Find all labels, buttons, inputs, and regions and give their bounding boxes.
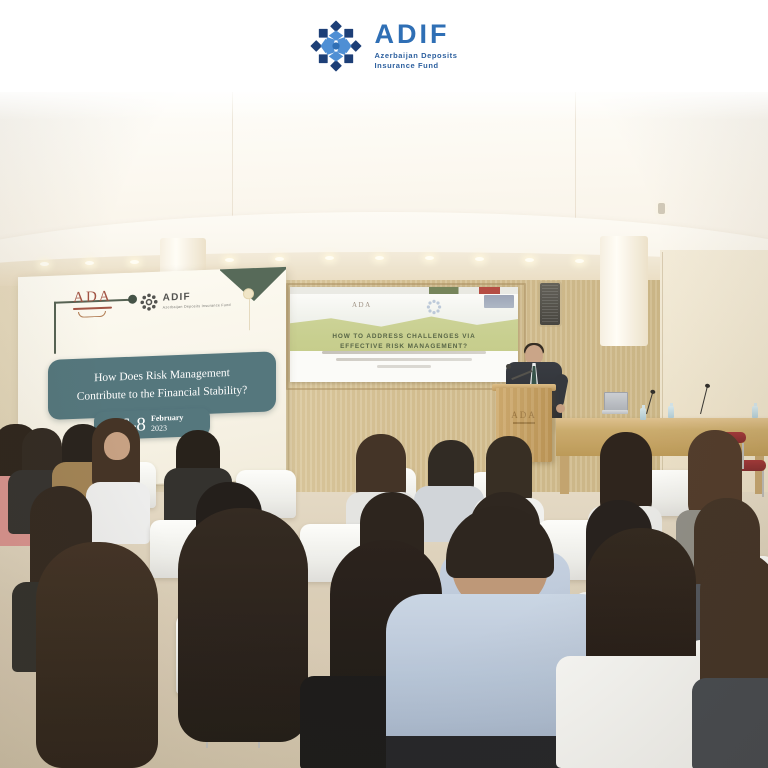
person-hair	[178, 508, 308, 742]
header-bar: ADIF Azerbaijan Deposits Insurance Fund	[0, 0, 768, 92]
header-tagline-line1: Azerbaijan Deposits	[374, 51, 457, 61]
screenshot-root: ADA HOW TO ADDRESS CHALLENGES VIA EFFECT…	[0, 0, 768, 768]
person-hair	[36, 542, 158, 768]
header-brand: ADIF	[374, 21, 457, 48]
header-wordmark: ADIF Azerbaijan Deposits Insurance Fund	[374, 21, 457, 70]
header-tagline-line2: Insurance Fund	[374, 61, 457, 71]
adif-rosette-icon	[310, 20, 362, 72]
header-tagline: Azerbaijan Deposits Insurance Fund	[374, 51, 457, 70]
person-torso	[86, 482, 150, 544]
person-head	[104, 432, 130, 460]
person-torso	[692, 678, 768, 768]
